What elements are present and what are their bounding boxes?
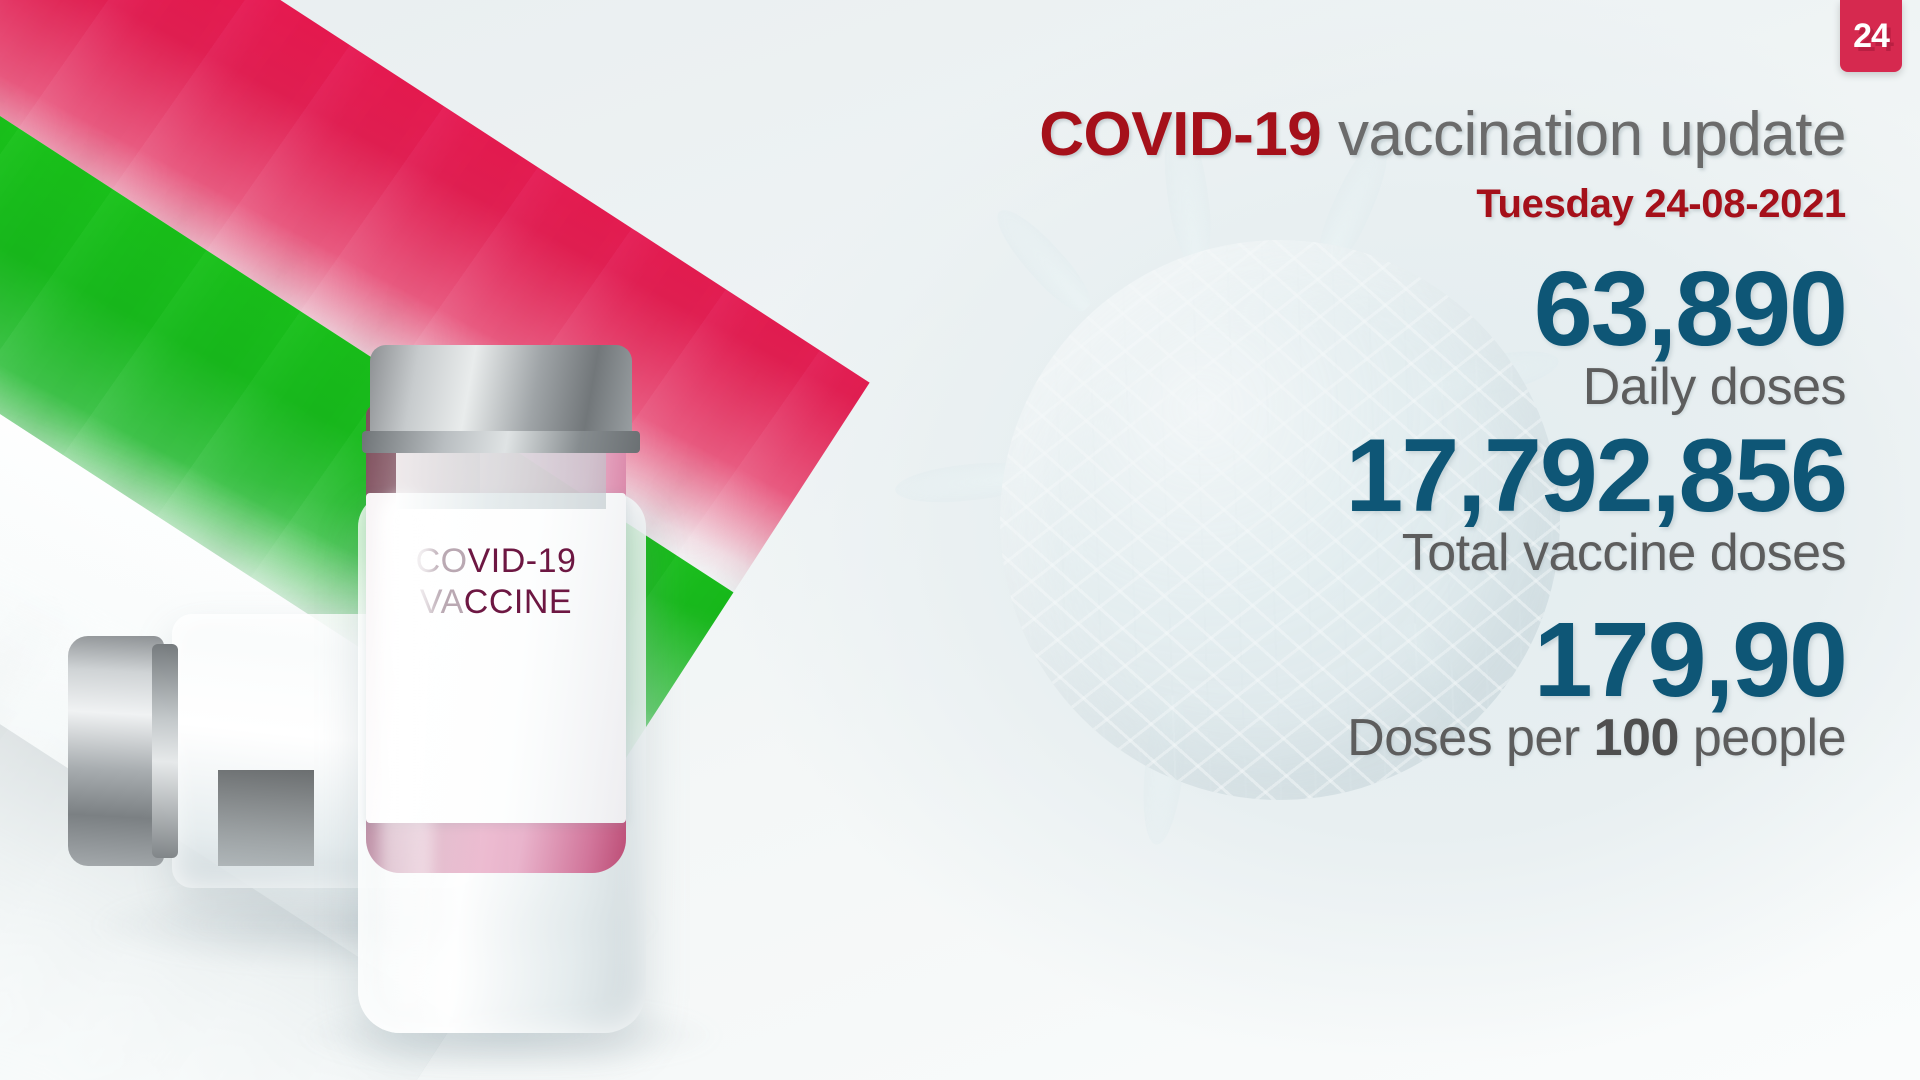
- stat-total-doses: 17,792,856 Total vaccine doses: [846, 421, 1846, 582]
- vial-cap-lip: [362, 431, 640, 453]
- stat-label-text: Doses per: [1347, 709, 1593, 767]
- stat-doses-per-100: 179,90 Doses per 100 people: [846, 604, 1846, 768]
- title-highlight: COVID-19: [1039, 100, 1321, 169]
- page-title: COVID-19 vaccination update: [846, 104, 1846, 166]
- vaccine-vial-upright: COVID-19 VACCINE: [352, 345, 652, 1045]
- vial-cap-edge: [152, 644, 178, 858]
- vial-metal-cap: [68, 636, 164, 866]
- vial-neck: [396, 449, 606, 509]
- vial-label-line2-dark: CCINE: [464, 583, 572, 621]
- stat-label: Daily doses: [846, 359, 1846, 416]
- vial-glass-highlight: [380, 495, 432, 1015]
- statistics-list: 63,890 Daily doses 17,792,856 Total vacc…: [846, 253, 1846, 768]
- stat-daily-doses: 63,890 Daily doses: [846, 253, 1846, 417]
- stat-label-text: Daily doses: [1583, 358, 1846, 416]
- title-rest: vaccination update: [1321, 100, 1846, 169]
- stat-value: 17,792,856: [846, 421, 1846, 531]
- stat-label-text: Total vaccine doses: [1402, 524, 1846, 582]
- channel-24-logo-badge: 24: [1840, 0, 1902, 72]
- badge-label: 24: [1853, 17, 1889, 56]
- stat-value: 179,90: [846, 604, 1846, 716]
- vial-label-line1-dark: VID-19: [468, 542, 577, 580]
- vial-metal-cap: [370, 345, 632, 445]
- stat-label-emphasis: 100: [1594, 709, 1679, 767]
- stat-value: 63,890: [846, 253, 1846, 365]
- report-date: Tuesday 24-08-2021: [846, 182, 1846, 227]
- content-column: COVID-19 vaccination update Tuesday 24-0…: [846, 104, 1846, 772]
- vial-liquid-shade: [218, 770, 314, 866]
- stat-label: Doses per 100 people: [846, 710, 1846, 767]
- infographic-canvas: COVID-19 VACCINE 24 COVID-19 vaccination…: [0, 0, 1920, 1080]
- stat-label-tail: people: [1679, 709, 1846, 767]
